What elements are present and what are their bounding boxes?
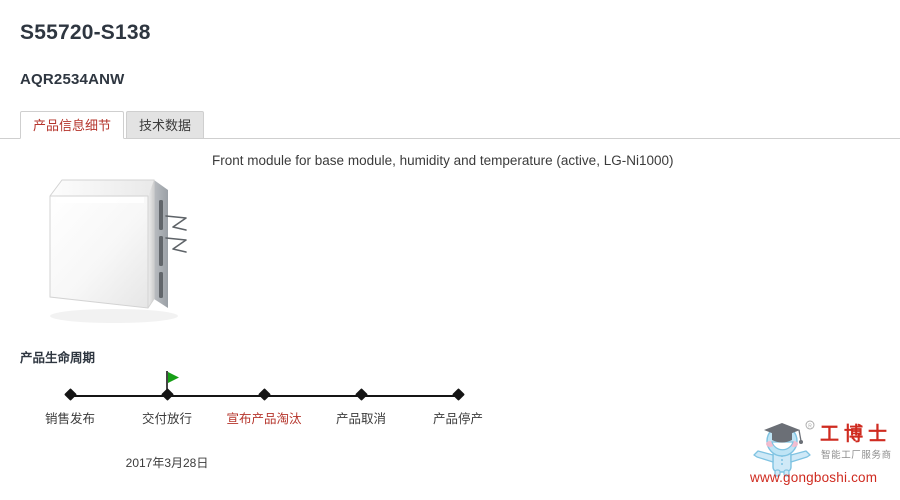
product-top-bevel [50, 180, 154, 196]
product-code: AQR2534ANW [20, 70, 125, 90]
lifecycle-timeline: 销售发布 交付放行 2017年3月28日 宣布产品淘汰 产品取消 产品停产 [0, 374, 520, 484]
milestone-label: 产品取消 [306, 411, 416, 427]
tab-bar: 产品信息细节 技术数据 [0, 110, 900, 139]
watermark-logo: R 工博士 智能工厂服务商 www.gongboshi.com [748, 420, 894, 494]
watermark-brand-tagline: 智能工厂服务商 [821, 450, 892, 462]
product-highlight [56, 197, 144, 203]
product-photo-svg [36, 156, 206, 331]
tab-product-details[interactable]: 产品信息细节 [20, 111, 124, 139]
product-right-bevel [148, 180, 154, 308]
milestone-label: 宣布产品淘汰 [209, 411, 319, 427]
product-vent-slot [159, 200, 163, 230]
milestone-node-icon [355, 388, 368, 401]
svg-text:R: R [808, 424, 812, 430]
milestone-node-icon [258, 388, 271, 401]
milestone-node-icon [64, 388, 77, 401]
product-photo [36, 156, 206, 331]
page-title: S55720-S138 [20, 20, 151, 46]
product-vent-slot [159, 236, 163, 266]
milestone-label: 销售发布 [15, 411, 125, 427]
product-wire-clips [166, 216, 186, 252]
lifecycle-current-date: 2017年3月28日 [112, 456, 222, 471]
milestone-label: 产品停产 [403, 411, 513, 427]
product-vent-slot [159, 272, 163, 298]
watermark-brand-url: www.gongboshi.com [750, 470, 877, 486]
tab-technical-data[interactable]: 技术数据 [126, 111, 204, 139]
milestone-node-icon [452, 388, 465, 401]
watermark-brand-name: 工博士 [820, 424, 892, 446]
milestone-label: 交付放行 [112, 411, 222, 427]
product-shadow [50, 309, 178, 323]
product-front-face [50, 196, 148, 308]
lifecycle-heading: 产品生命周期 [20, 350, 95, 366]
product-description: Front module for base module, humidity a… [212, 152, 673, 170]
